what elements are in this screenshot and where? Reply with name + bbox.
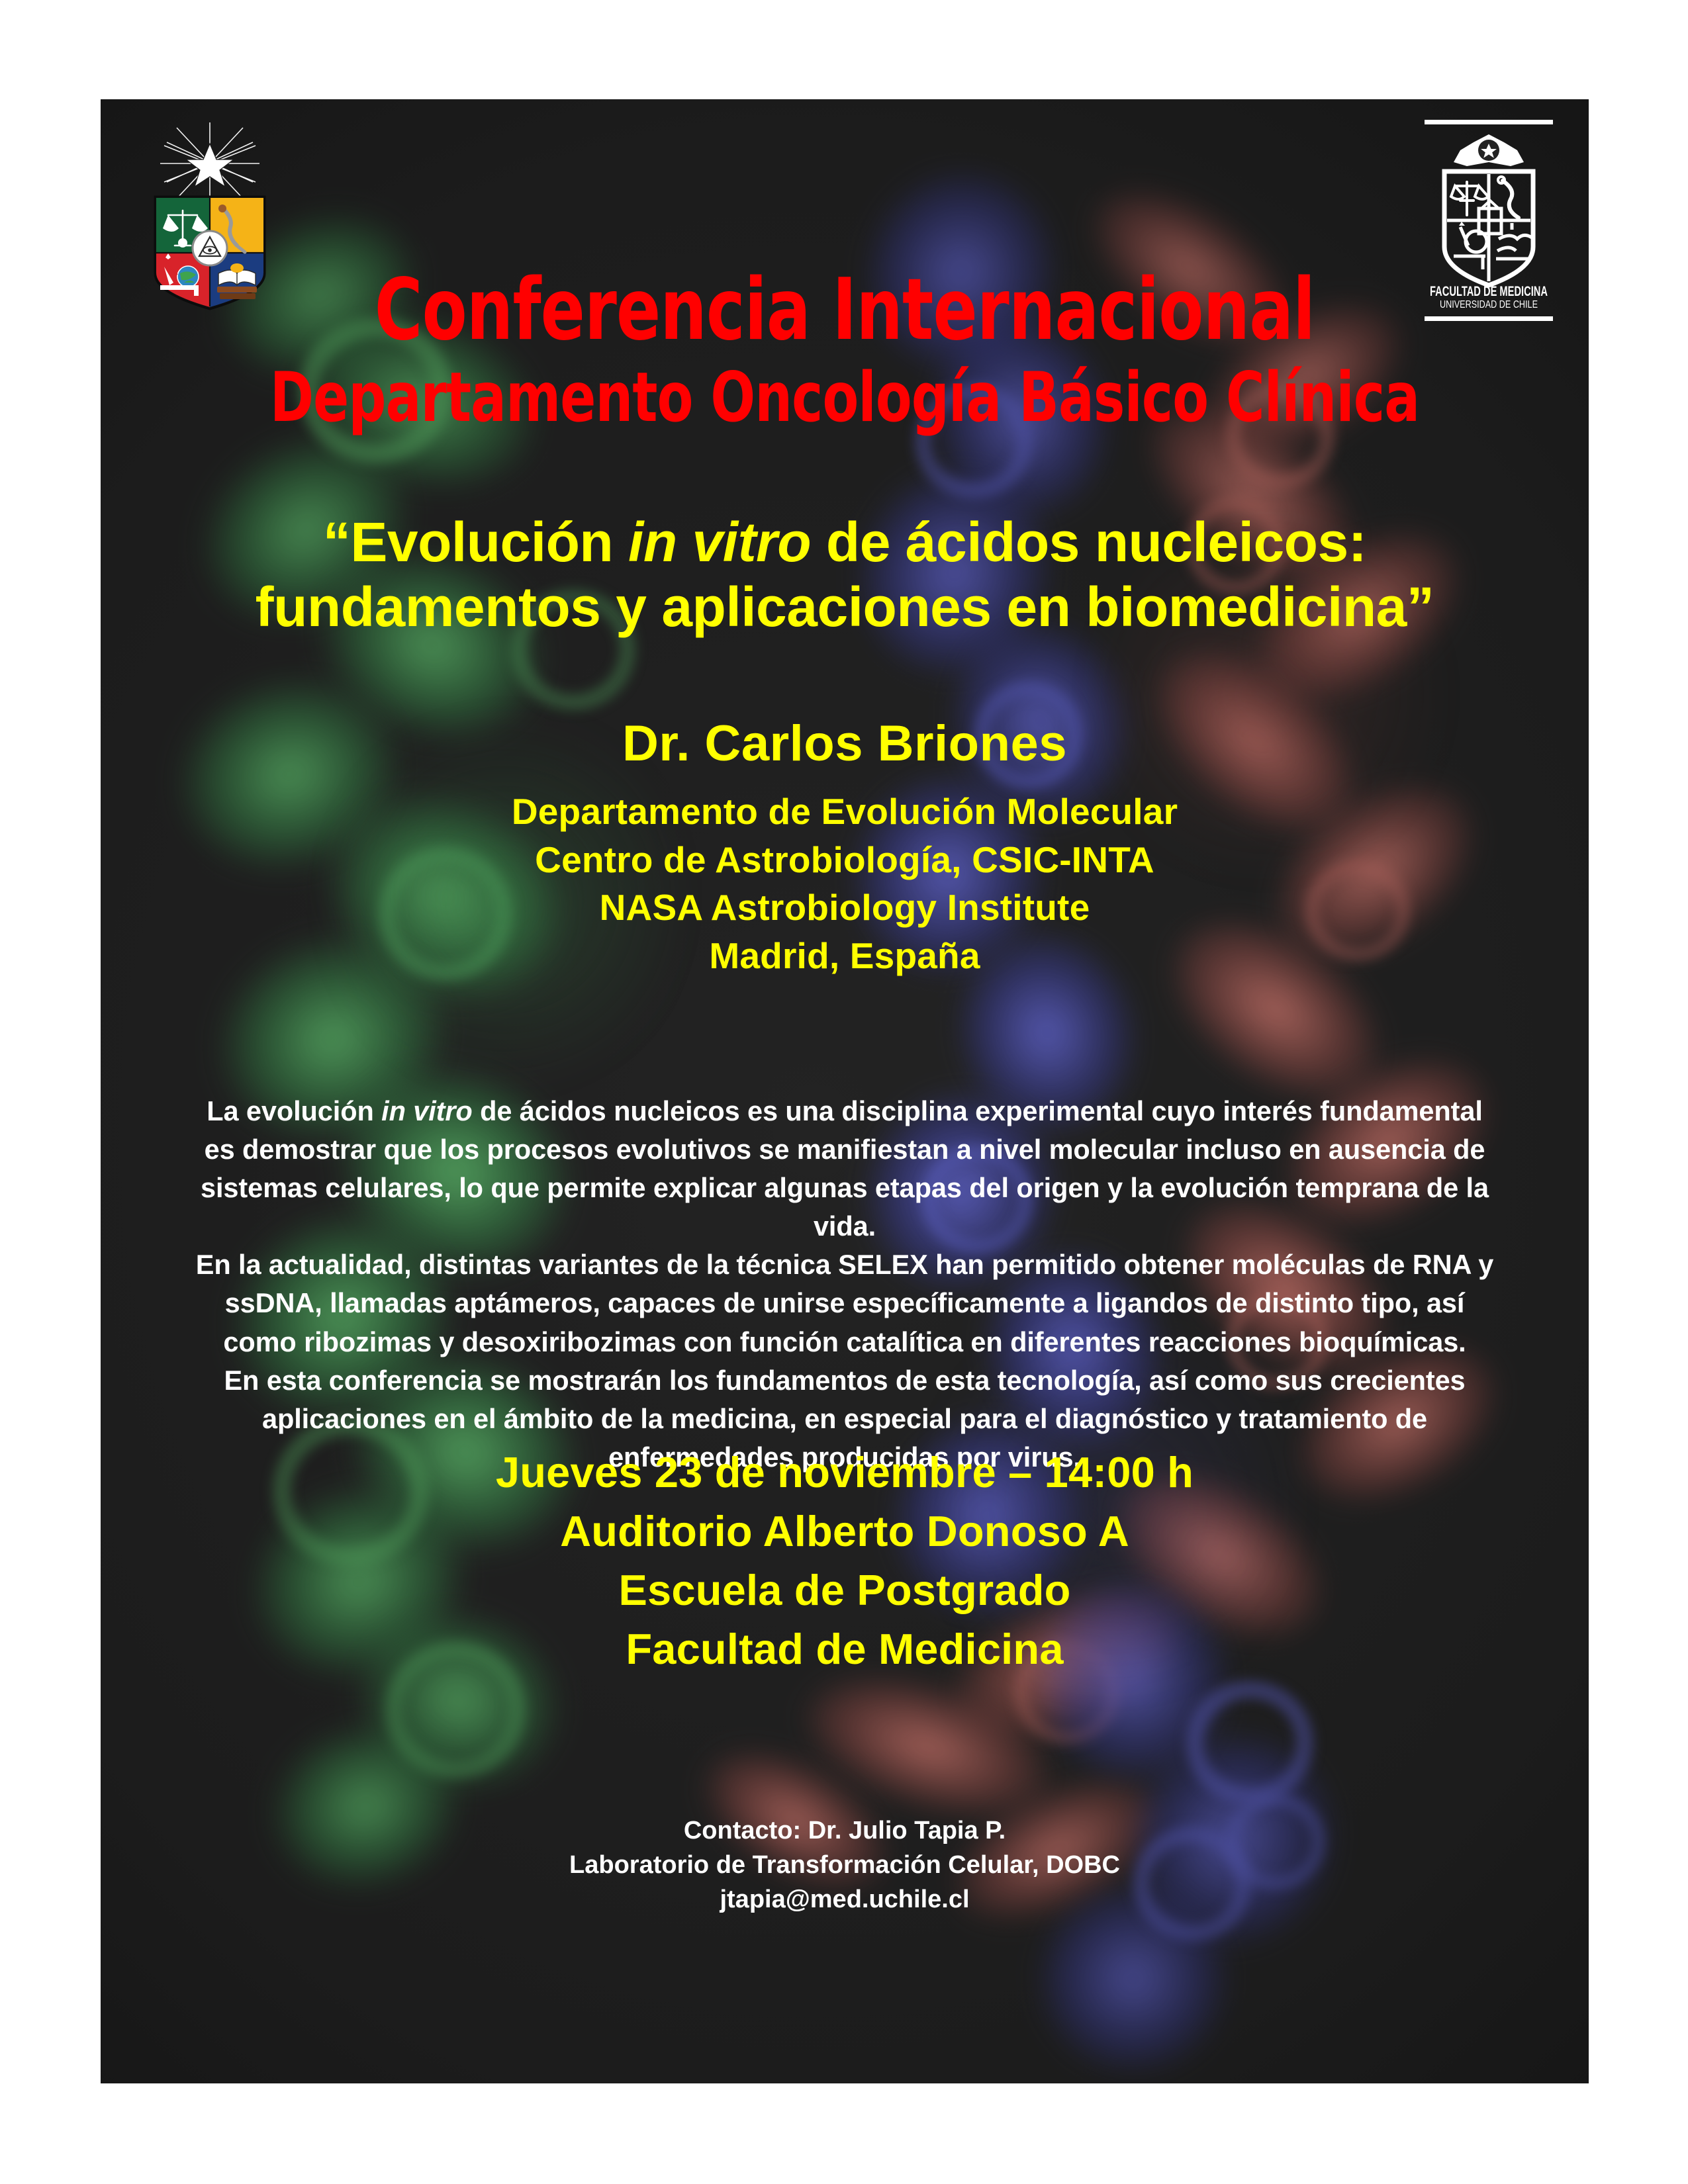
contact-email[interactable]: jtapia@med.uchile.cl [101,1882,1589,1917]
talk-title: “Evolución in vitro de ácidos nucleicos:… [173,510,1516,640]
abstract-p1-part1: La evolución [207,1095,381,1126]
poster-canvas: FACULTAD DE MEDICINA UNIVERSIDAD DE CHIL… [101,99,1589,2083]
talk-title-quote-open: “ [323,511,351,573]
abstract-paragraph-2: En la actualidad, distintas variantes de… [193,1246,1496,1361]
contact-person: Contacto: Dr. Julio Tapia P. [101,1813,1589,1848]
event-datetime: Jueves 23 de noviembre – 14:00 h [101,1443,1589,1502]
talk-title-line2: fundamentos y aplicaciones en biomedicin… [256,576,1434,638]
speaker-name: Dr. Carlos Briones [101,715,1589,772]
speaker-affiliation: Departamento de Evolución Molecular Cent… [101,788,1589,979]
talk-title-part1: Evolución [350,511,628,573]
affiliation-line: NASA Astrobiology Institute [101,884,1589,932]
affiliation-line: Centro de Astrobiología, CSIC-INTA [101,836,1589,884]
abstract-p1-italic: in vitro [381,1095,473,1126]
poster-page: FACULTAD DE MEDICINA UNIVERSIDAD DE CHIL… [0,0,1688,2184]
event-details: Jueves 23 de noviembre – 14:00 h Auditor… [101,1443,1589,1678]
conference-title-line1: Conferencia Internacional [205,268,1484,353]
abstract-text: La evolución in vitro de ácidos nucleico… [193,1092,1496,1477]
event-school: Escuela de Postgrado [101,1561,1589,1619]
contact-lab: Laboratorio de Transformación Celular, D… [101,1848,1589,1882]
abstract-paragraph-1: La evolución in vitro de ácidos nucleico… [193,1092,1496,1246]
contact-block: Contacto: Dr. Julio Tapia P. Laboratorio… [101,1813,1589,1917]
conference-title-line2: Departamento Oncología Básico Clínica [205,364,1484,432]
poster-content: Conferencia Internacional Departamento O… [101,99,1589,2083]
event-venue: Auditorio Alberto Donoso A [101,1502,1589,1561]
event-faculty: Facultad de Medicina [101,1619,1589,1678]
talk-title-part2: de ácidos nucleicos: [811,511,1366,573]
affiliation-line: Departamento de Evolución Molecular [101,788,1589,836]
talk-title-italic: in vitro [628,511,811,573]
affiliation-line: Madrid, España [101,932,1589,980]
